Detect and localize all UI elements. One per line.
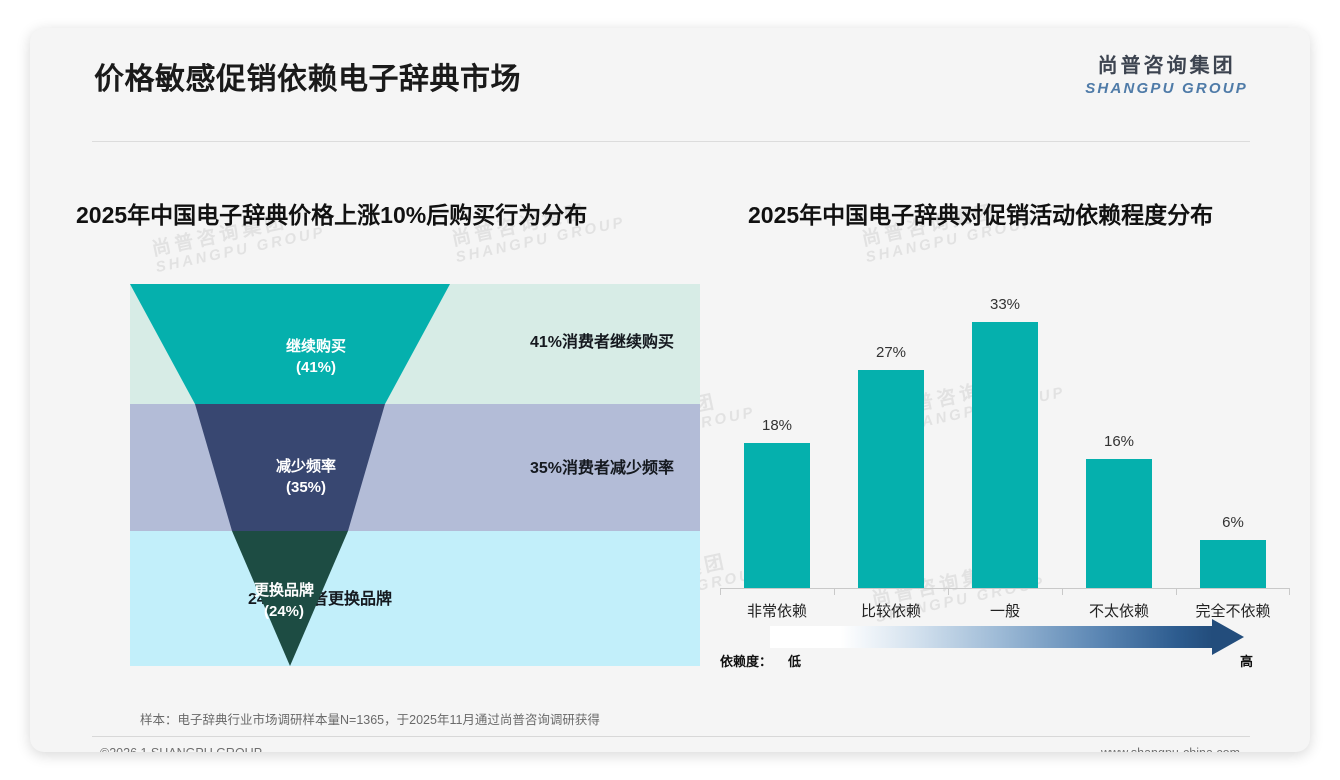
funnel-label-2: 更换品牌 (24%) [254, 580, 314, 623]
funnel-callout-0: 41%消费者继续购买 [530, 328, 674, 352]
funnel-callout-1: 35%消费者减少频率 [530, 454, 674, 478]
company-logo: 尚普咨询集团 SHANGPU GROUP [1085, 56, 1248, 96]
bar-chart: 18% 27% 33% 16% 6% 非常依赖 比较依赖 一般 不太依赖 完全不… [720, 258, 1300, 678]
bar-value-0: 18% [737, 417, 817, 434]
logo-chinese-text: 尚普咨询集团 [1085, 56, 1248, 76]
bar-plot-area: 18% 27% 33% 16% 6% 非常依赖 比较依赖 一般 不太依赖 完全不… [720, 288, 1290, 588]
bar-3[interactable] [1086, 459, 1152, 588]
gradient-bar [770, 626, 1212, 648]
bar-value-1: 27% [851, 344, 931, 361]
bar-0[interactable] [744, 443, 810, 588]
bar-1[interactable] [858, 370, 924, 588]
bar-value-3: 16% [1079, 433, 1159, 450]
slide-card: 尚普咨询集团 SHANGPU GROUP 尚普咨询集团 SHANGPU GROU… [30, 28, 1310, 752]
bar-4[interactable] [1200, 540, 1266, 588]
bar-2[interactable] [972, 322, 1038, 588]
x-axis-line [720, 588, 1290, 589]
bar-value-2: 33% [965, 296, 1045, 313]
copyright-text: ©2026.1 SHANGPU GROUP [100, 746, 262, 752]
gradient-arrow-icon [1212, 619, 1244, 655]
x-tick-label-2: 一般 [945, 600, 1065, 621]
right-chart-title: 2025年中国电子辞典对促销活动依赖程度分布 [748, 196, 1213, 230]
source-note: 样本：电子辞典行业市场调研样本量N=1365，于2025年11月通过尚普咨询调研… [140, 709, 600, 728]
header-divider [92, 141, 1250, 142]
funnel-label-0: 继续购买 (41%) [286, 336, 346, 379]
legend-high-label: 高 [1240, 651, 1253, 670]
funnel-chart: 41%消费者继续购买 35%消费者减少频率 24%消费者更换品牌 继续购买 (4… [90, 258, 710, 678]
page-title: 价格敏感促销依赖电子辞典市场 [94, 54, 521, 98]
x-tick-label-0: 非常依赖 [717, 600, 837, 621]
website-link[interactable]: www.shangpu-china.com [1101, 746, 1240, 752]
bar-value-4: 6% [1193, 514, 1273, 531]
legend-title: 依赖度： [720, 651, 772, 670]
x-tick-label-4: 完全不依赖 [1173, 600, 1293, 621]
footer-divider [92, 736, 1250, 737]
funnel-label-1: 减少频率 (35%) [276, 456, 336, 499]
x-tick-label-3: 不太依赖 [1059, 600, 1179, 621]
x-tick-label-1: 比较依赖 [831, 600, 951, 621]
slide-header: 价格敏感促销依赖电子辞典市场 尚普咨询集团 SHANGPU GROUP [30, 28, 1310, 116]
dependency-gradient-legend: 依赖度： 低 高 [720, 620, 1300, 680]
left-chart-title: 2025年中国电子辞典价格上涨10%后购买行为分布 [76, 196, 587, 230]
legend-low-label: 低 [788, 651, 801, 670]
logo-english-text: SHANGPU GROUP [1085, 81, 1248, 96]
